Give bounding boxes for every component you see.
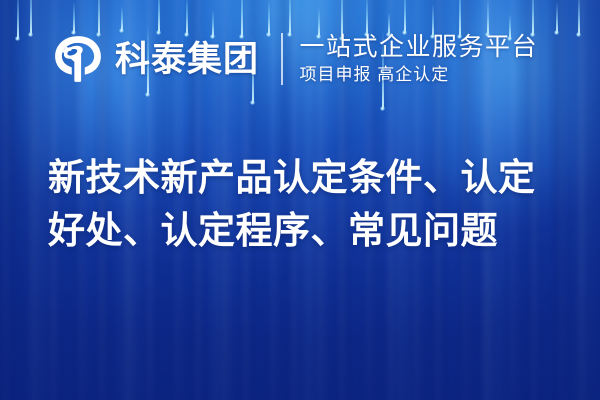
tagline-primary: 一站式企业服务平台 [300,33,539,61]
tagline-secondary: 项目申报 高企认定 [300,66,539,85]
header-divider [281,33,283,85]
light-streak [556,2,558,32]
tagline-block: 一站式企业服务平台 项目申报 高企认定 [300,33,539,85]
page-title: 新技术新产品认定条件、认定好处、认定程序、常见问题 [48,152,558,257]
light-streak [121,6,123,30]
ketai-group-logo-icon [52,33,104,85]
light-streak [17,0,19,38]
light-streak [30,0,32,34]
promotional-banner: 科泰集团 一站式企业服务平台 项目申报 高企认定 新技术新产品认定条件、认定好处… [0,0,600,400]
banner-header: 科泰集团 一站式企业服务平台 项目申报 高企认定 [52,28,538,90]
light-streak [578,0,580,34]
brand-name: 科泰集团 [115,42,259,77]
